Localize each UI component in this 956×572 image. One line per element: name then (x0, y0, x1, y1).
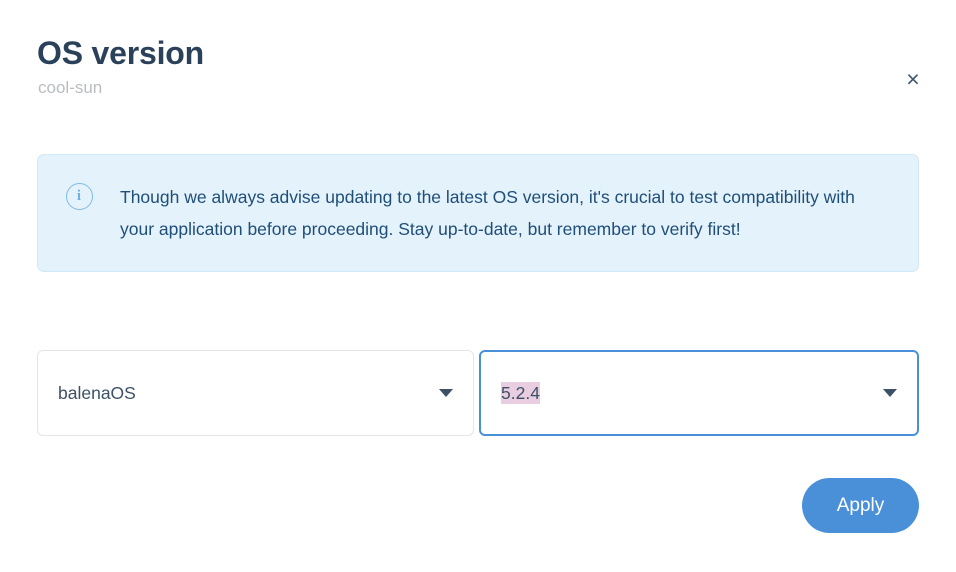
info-circle-icon: i (66, 183, 93, 210)
info-banner-message: Though we always advise updating to the … (120, 181, 894, 245)
close-icon[interactable]: × (896, 62, 930, 96)
os-type-select[interactable]: balenaOS (37, 350, 474, 436)
info-icon-container: i (38, 181, 120, 210)
dialog-header: OS version cool-sun (37, 34, 919, 98)
info-banner: i Though we always advise updating to th… (37, 154, 919, 272)
os-version-dialog: OS version cool-sun × i Though we always… (0, 0, 956, 572)
os-version-select[interactable]: 5.2.4 (479, 350, 919, 436)
os-selection-row: balenaOS 5.2.4 (37, 350, 919, 436)
chevron-down-icon (883, 389, 897, 397)
dialog-footer: Apply (37, 478, 919, 533)
os-version-select-value: 5.2.4 (501, 383, 873, 404)
apply-button[interactable]: Apply (802, 478, 919, 533)
os-version-select-value-text: 5.2.4 (501, 382, 540, 404)
chevron-down-icon (439, 389, 453, 397)
os-type-select-value: balenaOS (58, 383, 429, 404)
page-title: OS version (37, 34, 919, 72)
device-name-subtitle: cool-sun (38, 78, 919, 98)
